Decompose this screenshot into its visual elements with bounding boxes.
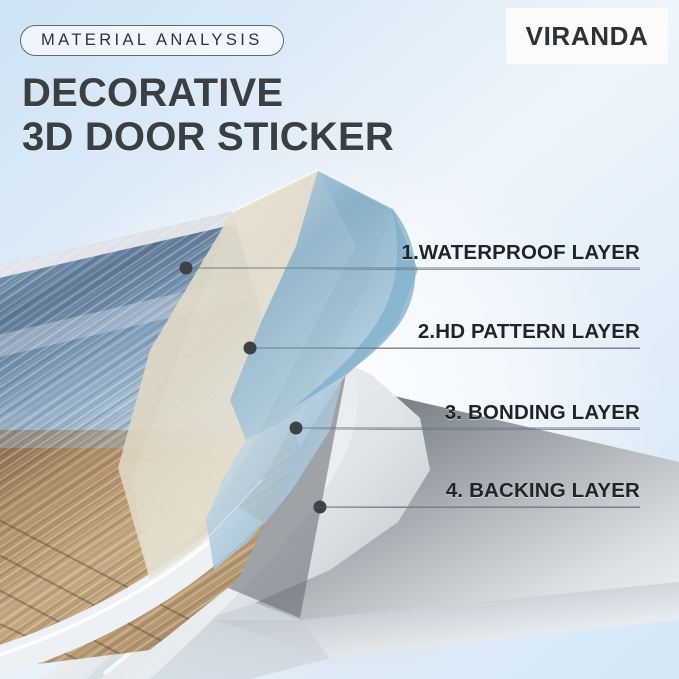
callout-underline-1: [310, 269, 640, 270]
callout-label-1: 1.WATERPROOF LAYER: [310, 243, 640, 264]
callout-waterproof-layer: 1.WATERPROOF LAYER: [310, 243, 640, 270]
callout-backing-layer: 4. BACKING LAYER: [310, 481, 640, 508]
callout-bonding-layer: 3. BONDING LAYER: [310, 403, 640, 430]
brand-logo-label: VIRANDA: [526, 21, 649, 52]
eyebrow-badge-label: MATERIAL ANALYSIS: [41, 31, 263, 50]
callout-label-3: 3. BONDING LAYER: [310, 403, 640, 424]
page-title-line-1: DECORATIVE: [22, 71, 283, 116]
callout-label-2: 2.HD PATTERN LAYER: [310, 322, 640, 343]
callout-hd-pattern-layer: 2.HD PATTERN LAYER: [310, 322, 640, 349]
eyebrow-badge: MATERIAL ANALYSIS: [20, 25, 284, 56]
product-infographic: MATERIAL ANALYSIS DECORATIVE 3D DOOR STI…: [0, 0, 679, 679]
callout-underline-2: [310, 348, 640, 349]
callout-underline-4: [310, 507, 640, 508]
callout-label-4: 4. BACKING LAYER: [310, 481, 640, 502]
callout-underline-3: [310, 429, 640, 430]
brand-logo: VIRANDA: [506, 8, 668, 64]
